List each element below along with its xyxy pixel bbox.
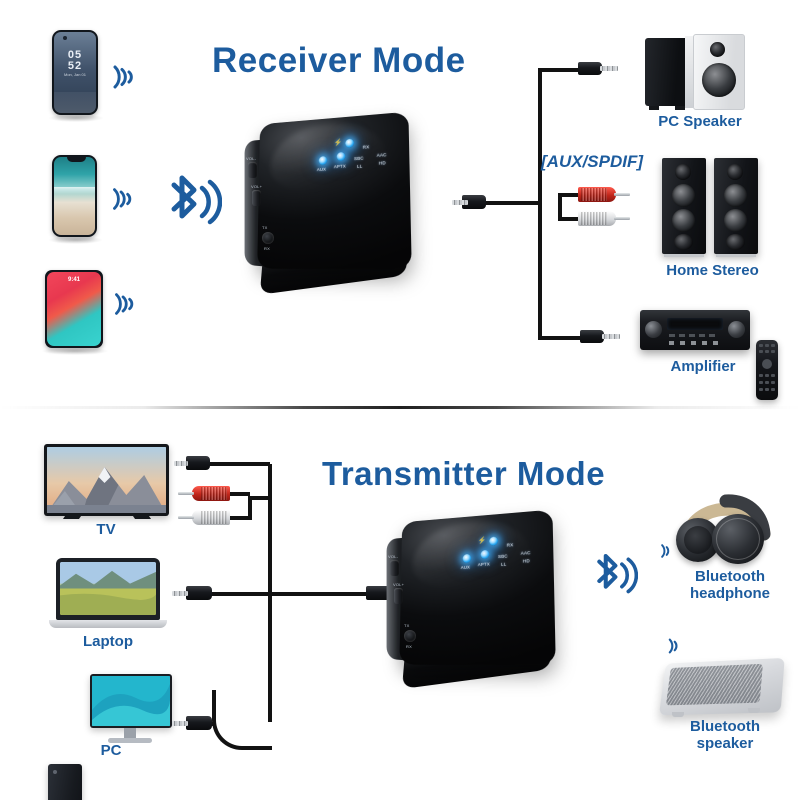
aux-spdif-label: [AUX/SPDIF]	[541, 152, 643, 172]
amplifier-remote	[756, 340, 778, 400]
cable-branch-pc-curve	[212, 690, 272, 750]
led-label-hd-tx: HD	[523, 558, 530, 563]
tx-label: TX	[262, 225, 268, 230]
laptop-plug-tip	[172, 591, 188, 596]
signal-wave-icon	[662, 634, 686, 658]
led-label-sbc-tx: SBC	[498, 554, 508, 560]
tx-label-tx: TX	[404, 623, 410, 628]
phone-clock: 05 52 Mon, Jan 01	[54, 50, 96, 77]
cable-trunk-receiver	[538, 70, 542, 340]
cable-branch-bottom	[538, 336, 582, 340]
btspk-foot-right	[748, 708, 760, 713]
bluetooth-transceiver-receiver[interactable]: ⚡ AUX APTX SBC AAC LL HD RX VOL- VOL+ TX…	[238, 112, 418, 297]
bluetooth-transceiver-transmitter[interactable]: ⚡ AUX APTX SBC AAC LL HD RX VOL- VOL+ TX…	[382, 512, 567, 692]
receiver-mode-title: Receiver Mode	[212, 41, 466, 81]
laptop-plug-body	[186, 586, 212, 600]
bluetooth-speaker-label: Bluetooth speaker	[655, 718, 795, 753]
led-label-sbc: SBC	[354, 156, 364, 162]
volume-up-button-tx[interactable]	[394, 588, 403, 604]
led-label-ll: LL	[357, 164, 362, 169]
led-label-aptx: APTX	[334, 164, 346, 170]
amplifier-label: Amplifier	[648, 358, 758, 375]
product-diagram: Receiver Mode 05 52 Mon, Jan 01	[0, 0, 800, 800]
volume-up-button[interactable]	[252, 190, 261, 206]
led-label-aac: AAC	[377, 152, 387, 158]
cable-branch-tv	[208, 462, 270, 466]
rx-label-tx: RX	[406, 644, 412, 649]
signal-wave-icon	[106, 60, 140, 94]
aux-plug-top	[578, 62, 602, 75]
bluetooth-headphone-label: Bluetooth headphone	[660, 568, 800, 603]
bluetooth-icon	[160, 168, 222, 240]
rca-pin-white	[614, 217, 630, 220]
ipad-clock: 9:41	[47, 277, 101, 283]
led-status-panel-tx: ⚡ AUX APTX SBC AAC LL HD RX	[457, 532, 548, 579]
volume-up-label: VOL+	[251, 184, 262, 189]
led-aux	[319, 156, 327, 165]
tv-label: TV	[56, 521, 156, 538]
aux-jack-port[interactable]	[262, 232, 274, 244]
led-label-aux: AUX	[317, 167, 326, 172]
led-label-ll-tx: LL	[501, 562, 506, 567]
source-ipad: 9:41	[45, 270, 103, 348]
led-aptx	[337, 152, 346, 161]
rca-ring-red-tx	[201, 487, 227, 500]
tv-plug-body	[186, 456, 210, 470]
led-power-tx	[489, 536, 498, 545]
source-pc-monitor	[90, 674, 172, 728]
aux-jack-port-tx[interactable]	[404, 630, 416, 642]
led-aptx-tx	[481, 550, 490, 559]
volume-down-button[interactable]	[248, 162, 257, 178]
led-label-aptx-tx: APTX	[478, 562, 490, 568]
rca-ring-white	[581, 212, 607, 225]
tv-plug-tip	[174, 461, 188, 466]
bluetooth-icon	[588, 548, 638, 606]
tv-stand-left	[63, 516, 81, 519]
rca-pin-red	[614, 193, 630, 196]
rx-label: RX	[264, 246, 270, 251]
aux-plug-tip-bottom	[602, 334, 620, 339]
led-label-rx: RX	[363, 144, 370, 149]
rca-lead-red-tx	[228, 492, 250, 496]
rca-lead-white	[558, 217, 580, 221]
output-bluetooth-headphone	[672, 484, 782, 568]
source-laptop	[56, 558, 167, 628]
power-bolt-icon-tx: ⚡	[478, 536, 486, 544]
volume-down-label: VOL-	[246, 156, 256, 161]
signal-wave-icon	[108, 288, 140, 320]
led-status-panel: ⚡ AUX APTX SBC AAC LL HD RX	[313, 134, 401, 181]
source-pc-tower	[48, 764, 82, 800]
rca-pin-red-tx	[178, 492, 194, 495]
power-bolt-icon: ⚡	[334, 138, 342, 146]
led-power	[345, 139, 354, 148]
volume-up-label-tx: VOL+	[393, 582, 404, 587]
home-stereo-label: Home Stereo	[645, 262, 780, 279]
volume-down-button-tx[interactable]	[390, 560, 399, 576]
output-bluetooth-speaker	[659, 658, 785, 715]
rca-lead-red	[558, 193, 580, 197]
cable-branch-laptop	[186, 592, 394, 596]
source-tv	[44, 444, 169, 516]
transmitter-mode-title: Transmitter Mode	[322, 455, 605, 493]
pc-plug-tip	[172, 721, 188, 726]
output-amplifier	[640, 310, 750, 350]
tv-stand-right	[133, 516, 151, 519]
pc-speaker-label: PC Speaker	[640, 113, 760, 130]
signal-wave-icon	[106, 183, 138, 215]
laptop-label: Laptop	[56, 633, 160, 650]
section-divider	[0, 406, 800, 409]
cable-branch-top	[538, 68, 580, 72]
aux-plug-tip-top	[600, 66, 618, 71]
led-label-aac-tx: AAC	[521, 550, 531, 556]
source-android-phone: 05 52 Mon, Jan 01	[52, 30, 98, 115]
aux-plug-tip-middle	[452, 200, 468, 205]
rca-lead-white-tx	[228, 516, 250, 520]
led-aux-tx	[463, 554, 471, 563]
aux-plug-bottom	[580, 330, 604, 343]
pc-plug-body	[186, 716, 212, 730]
pc-label: PC	[66, 742, 156, 759]
btspk-foot-left	[672, 712, 684, 717]
volume-down-label-tx: VOL-	[388, 554, 398, 559]
rca-pin-white-tx	[178, 516, 194, 519]
signal-wave-icon	[655, 540, 677, 562]
rca-ring-red	[581, 188, 607, 201]
led-label-hd: HD	[379, 160, 386, 165]
led-label-aux-tx: AUX	[461, 565, 470, 570]
source-iphone	[52, 155, 97, 237]
led-label-rx-tx: RX	[507, 542, 514, 547]
rca-ring-white-tx	[201, 511, 227, 524]
